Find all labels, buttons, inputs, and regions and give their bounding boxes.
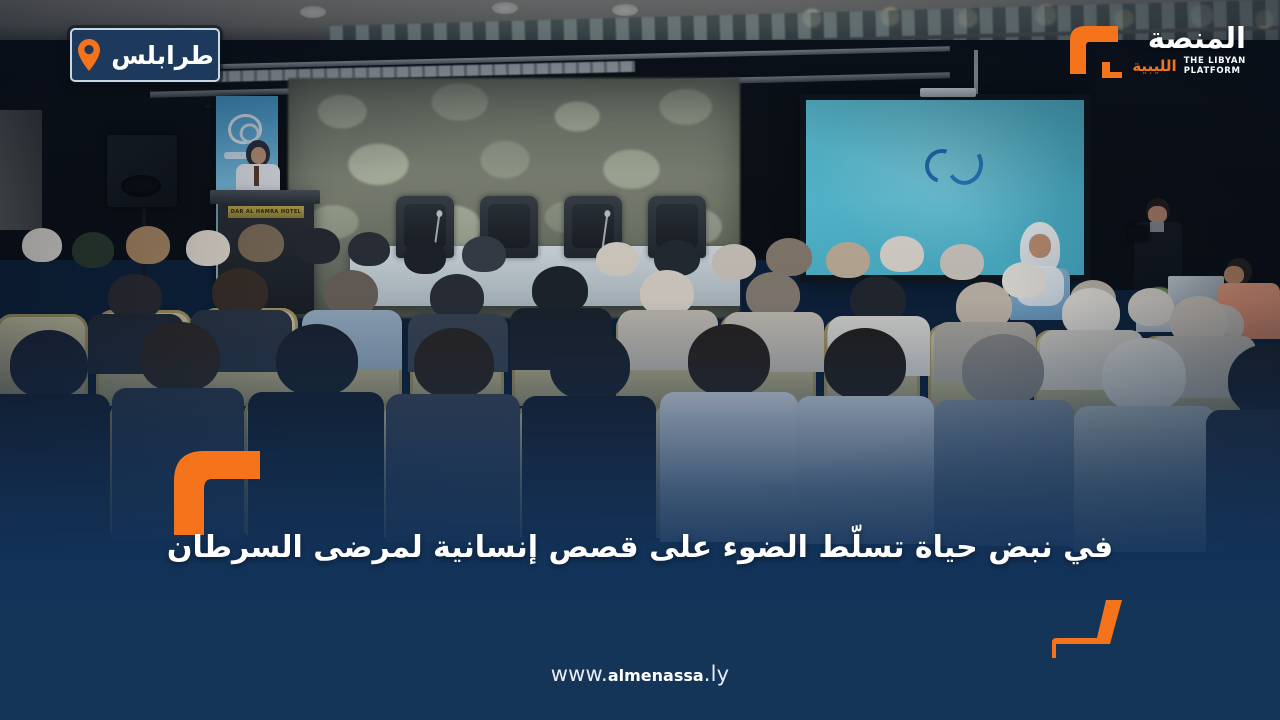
brand-english-line1: THE LIBYAN xyxy=(1184,56,1246,66)
url-tld: .ly xyxy=(704,662,730,686)
location-label: طرابلس xyxy=(111,43,214,68)
decorative-tail-mark-small xyxy=(1052,598,1130,660)
location-badge[interactable]: طرابلس xyxy=(70,28,220,82)
brand-arabic-sub: الليبية xyxy=(1132,59,1176,74)
brand-logo[interactable]: المنصة THE LIBYAN PLATFORM الليبية xyxy=(1030,22,1246,92)
brand-wordmark: المنصة THE LIBYAN PLATFORM الليبية xyxy=(1132,22,1246,77)
map-pin-icon xyxy=(76,38,102,72)
decorative-hook-mark-large xyxy=(160,437,270,537)
brand-english-line2: PLATFORM xyxy=(1184,66,1246,76)
headline: في نبض حياة تسلّط الضوء على قصص إنسانية … xyxy=(0,528,1280,569)
brand-english-name: THE LIBYAN PLATFORM xyxy=(1184,56,1246,77)
url-prefix: www. xyxy=(551,662,608,686)
news-card: DAR AL HAMRA HOTEL xyxy=(0,0,1280,720)
brand-arabic-name: المنصة xyxy=(1132,24,1246,53)
brand-row: المنصة THE LIBYAN PLATFORM الليبية xyxy=(1062,22,1246,80)
website-url[interactable]: www.almenassa.ly xyxy=(0,662,1280,686)
brand-subline: THE LIBYAN PLATFORM الليبية xyxy=(1132,56,1246,77)
brand-hook-icon xyxy=(1062,22,1126,80)
url-name: almenassa xyxy=(608,666,704,685)
headline-text: في نبض حياة تسلّط الضوء على قصص إنسانية … xyxy=(167,528,1113,569)
